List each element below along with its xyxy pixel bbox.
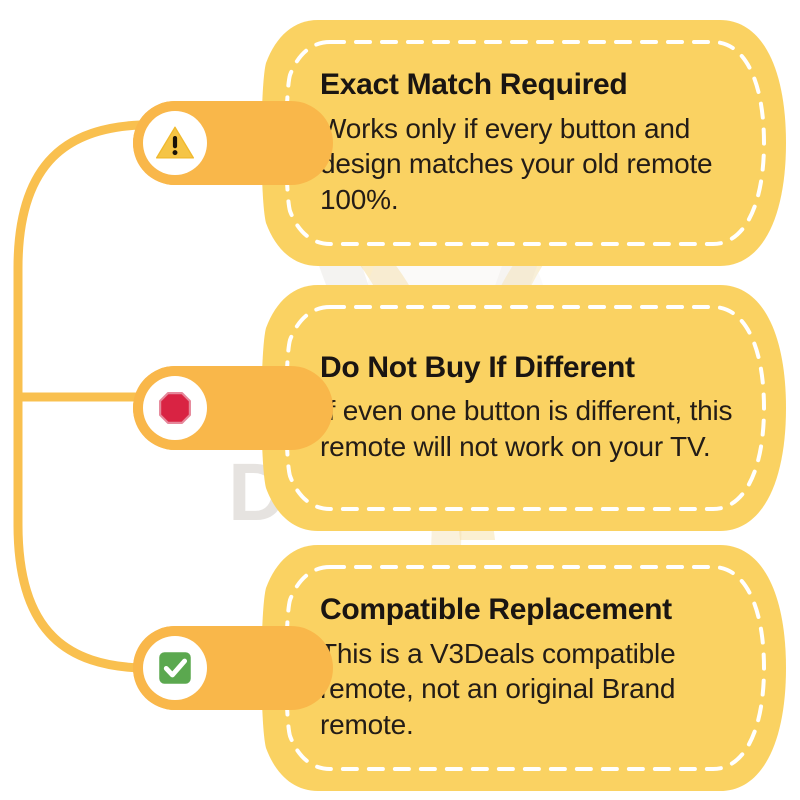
info-card-1: Exact Match Required Works only if every…	[258, 18, 788, 268]
info-row-1: Exact Match Required Works only if every…	[0, 18, 800, 268]
infographic-root: DEALS Exact Match Required Works only if…	[0, 0, 800, 800]
info-row-2: Do Not Buy If Different If even one butt…	[0, 283, 800, 533]
icon-bubble-inner-1	[143, 111, 207, 175]
card-title: Do Not Buy If Different	[320, 351, 775, 386]
icon-bubble-inner-2	[143, 376, 207, 440]
info-card-2: Do Not Buy If Different If even one butt…	[258, 283, 788, 533]
card-body: If even one button is different, this re…	[320, 393, 775, 465]
icon-bubble-inner-3	[143, 636, 207, 700]
info-row-3: Compatible Replacement This is a V3Deals…	[0, 543, 800, 793]
card-body: This is a V3Deals compatible remote, not…	[320, 636, 775, 743]
card-title: Compatible Replacement	[320, 593, 775, 628]
card-title: Exact Match Required	[320, 68, 775, 103]
icon-bubble-2[interactable]	[133, 366, 217, 450]
card-body: Works only if every button and design ma…	[320, 111, 775, 218]
warning-triangle-icon	[154, 122, 196, 164]
check-square-icon	[154, 647, 196, 689]
icon-bubble-1[interactable]	[133, 101, 217, 185]
stop-octagon-icon	[154, 387, 196, 429]
icon-bubble-3[interactable]	[133, 626, 217, 710]
info-card-3: Compatible Replacement This is a V3Deals…	[258, 543, 788, 793]
